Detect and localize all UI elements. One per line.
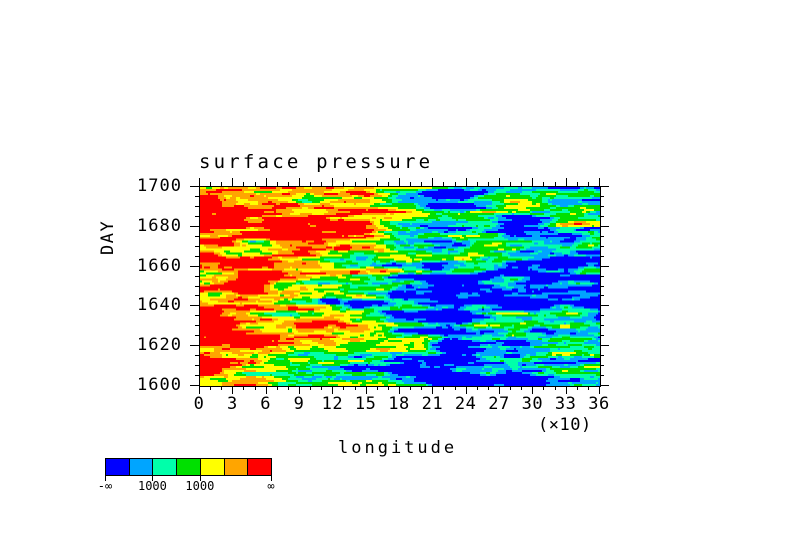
axis-tick — [600, 345, 609, 346]
y-tick-label: 1640 — [120, 295, 182, 315]
axis-tick — [599, 386, 600, 394]
axis-tick — [432, 178, 433, 186]
y-tick-label: 1660 — [120, 256, 182, 276]
x-tick-label: 36 — [579, 394, 619, 414]
axis-tick — [190, 186, 199, 187]
axis-tick — [432, 386, 433, 394]
axis-tick — [232, 178, 233, 186]
axis-tick — [366, 386, 367, 394]
y-tick-label: 1680 — [120, 216, 182, 236]
axis-tick — [266, 178, 267, 186]
y-tick-label: 1620 — [120, 335, 182, 355]
y-axis-title: DAY — [98, 220, 118, 255]
axis-tick — [600, 385, 609, 386]
axis-tick — [566, 178, 567, 186]
colorbar-swatch — [176, 459, 200, 475]
axis-tick — [332, 386, 333, 394]
colorbar-swatch — [106, 459, 129, 475]
axis-tick — [600, 186, 609, 187]
axis-tick — [299, 178, 300, 186]
axis-tick — [190, 266, 199, 267]
colorbar-swatch — [224, 459, 248, 475]
colorbar-swatch — [200, 459, 224, 475]
axis-tick — [499, 178, 500, 186]
axis-tick — [600, 305, 609, 306]
colorbar-label: ∞ — [248, 479, 294, 493]
axis-tick — [466, 386, 467, 394]
figure-root: surface pressure 17001680166016401620160… — [0, 0, 789, 558]
axis-tick — [600, 226, 609, 227]
axis-tick — [190, 385, 199, 386]
colorbar-swatch — [247, 459, 271, 475]
axis-tick — [299, 386, 300, 394]
colorbar-swatch — [152, 459, 176, 475]
axis-tick — [190, 305, 199, 306]
axis-tick — [266, 386, 267, 394]
colorbar-label: 1000 — [129, 479, 175, 493]
y-tick-label: 1600 — [120, 375, 182, 395]
colorbar — [105, 458, 272, 476]
x-axis-multiplier: (×10) — [538, 415, 592, 435]
axis-tick — [566, 386, 567, 394]
axis-tick — [499, 386, 500, 394]
axis-tick — [532, 178, 533, 186]
axis-tick — [232, 386, 233, 394]
axis-tick — [600, 266, 609, 267]
plot-title: surface pressure — [199, 151, 599, 173]
y-tick-label: 1700 — [120, 176, 182, 196]
colorbar-label: -∞ — [82, 479, 128, 493]
axis-tick — [532, 386, 533, 394]
colorbar-label: 1000 — [177, 479, 223, 493]
heatmap-canvas — [200, 187, 600, 386]
axis-tick — [190, 345, 199, 346]
x-axis-title: longitude — [338, 438, 457, 458]
axis-tick — [366, 178, 367, 186]
axis-tick — [399, 386, 400, 394]
axis-tick — [199, 178, 200, 186]
axis-tick — [190, 226, 199, 227]
heatmap-plot-area — [199, 186, 601, 387]
axis-tick — [599, 178, 600, 186]
axis-tick — [199, 386, 200, 394]
colorbar-swatch — [129, 459, 153, 475]
axis-tick — [466, 178, 467, 186]
axis-tick — [332, 178, 333, 186]
axis-tick — [399, 178, 400, 186]
